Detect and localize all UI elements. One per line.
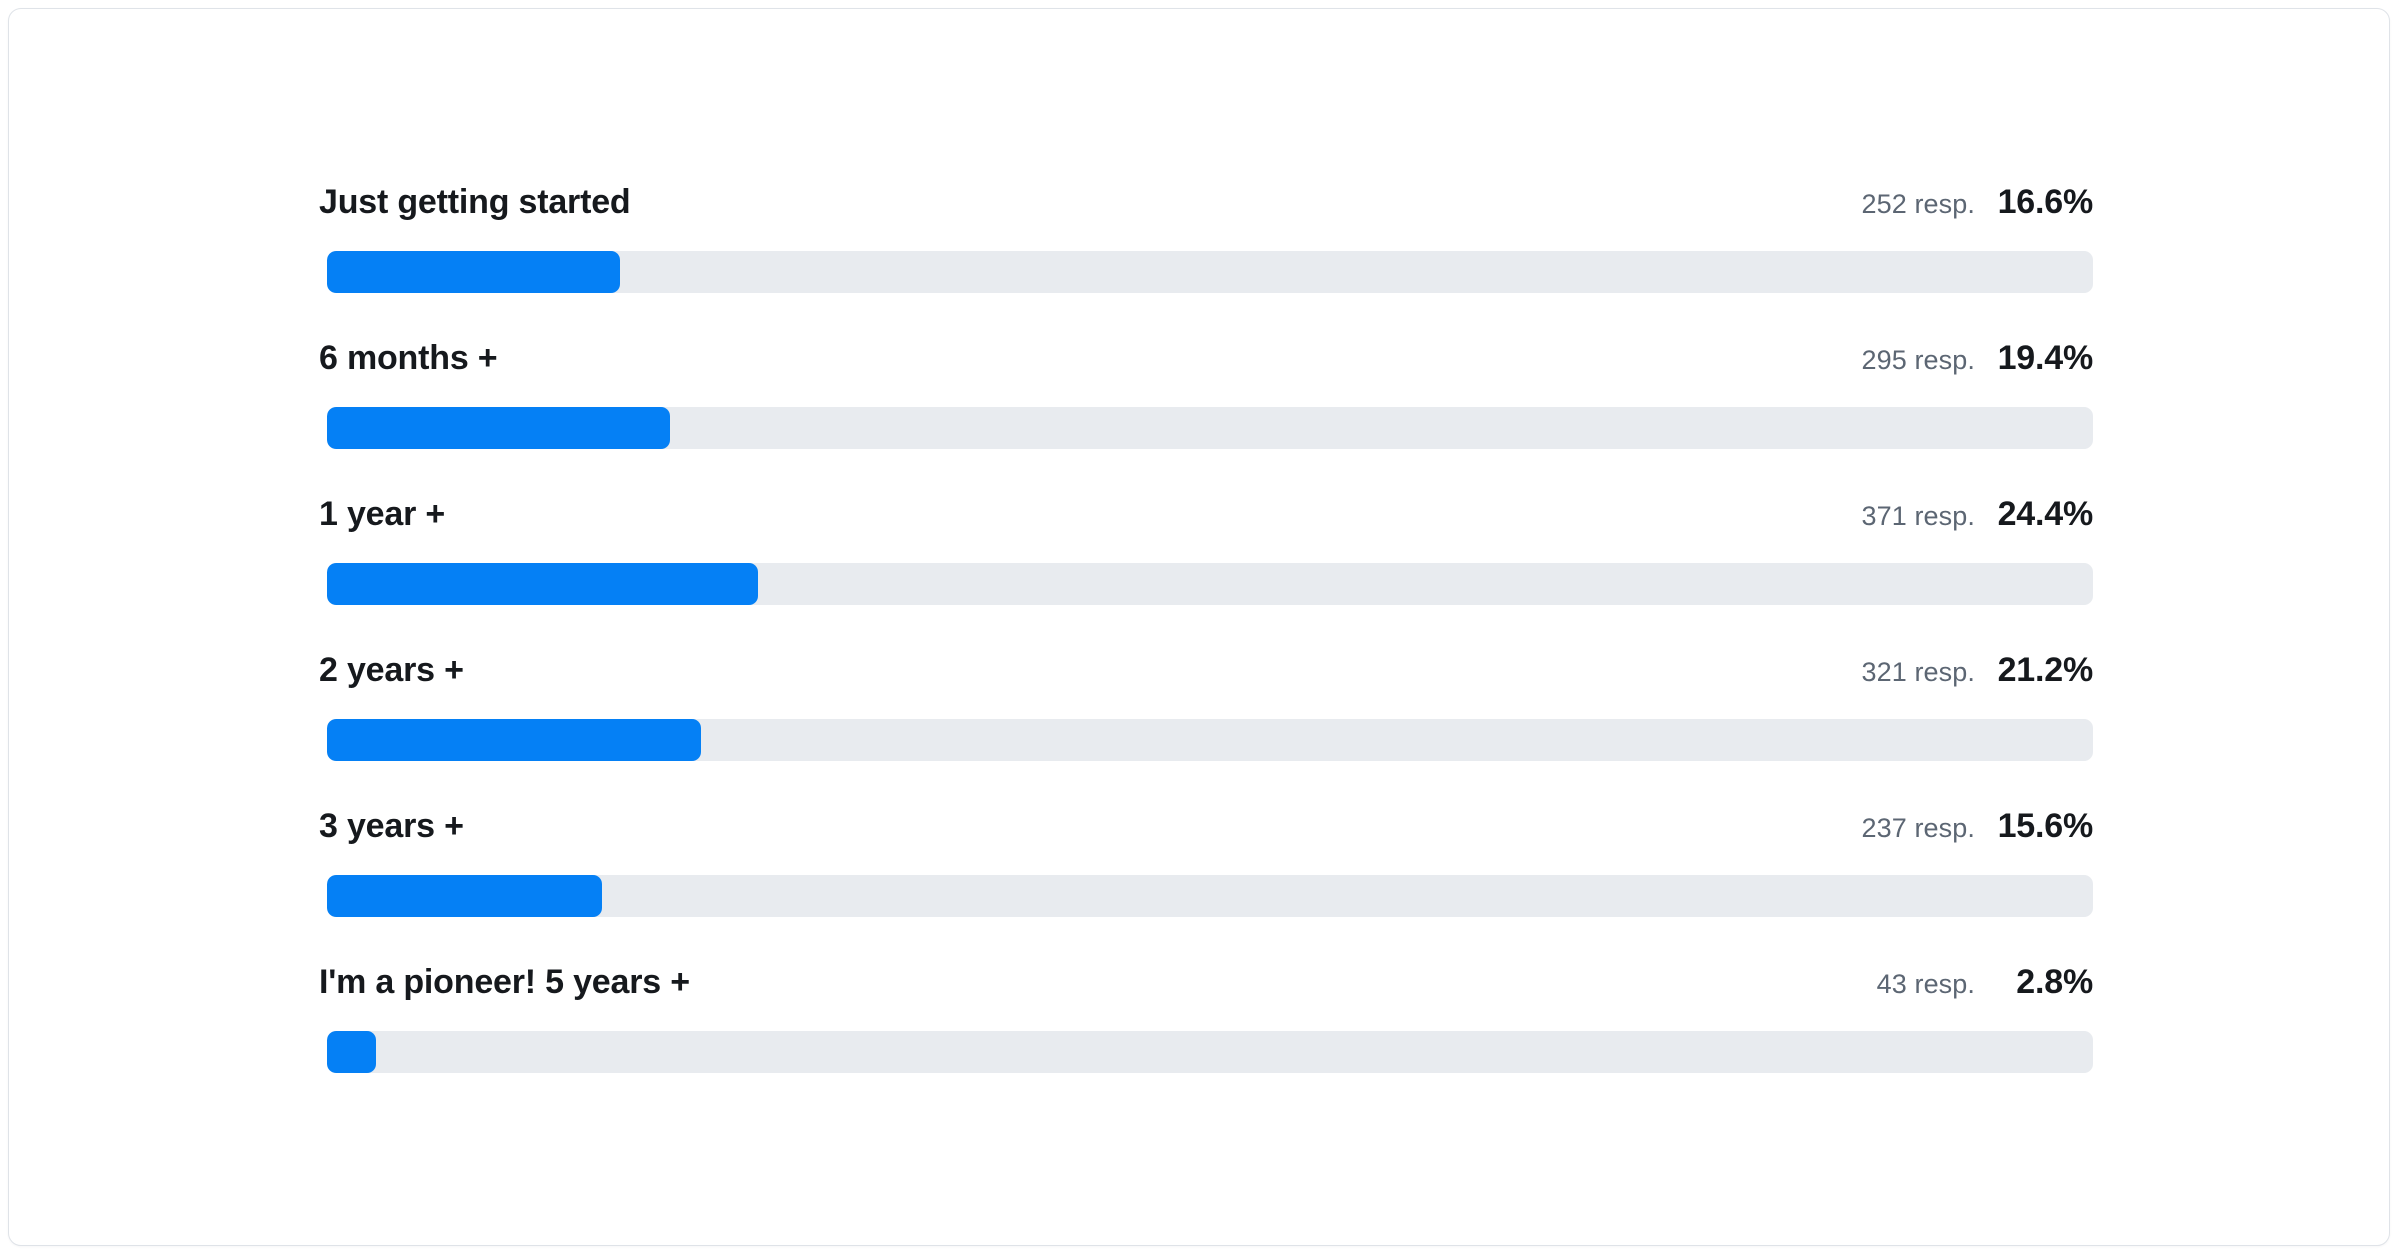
result-row-header: 1 year + 371 resp. 24.4% bbox=[319, 491, 2093, 537]
percentage-value: 21.2% bbox=[1975, 647, 2093, 693]
result-row-header: 3 years + 237 resp. 15.6% bbox=[319, 803, 2093, 849]
option-label: 1 year + bbox=[319, 491, 445, 537]
progress-bar-fill bbox=[327, 875, 602, 917]
progress-bar-fill bbox=[327, 251, 620, 293]
result-row-metrics: 43 resp. 2.8% bbox=[1877, 959, 2093, 1007]
progress-bar-fill bbox=[327, 719, 701, 761]
progress-bar-track bbox=[327, 563, 2093, 605]
response-count: 321 resp. bbox=[1862, 649, 1975, 695]
option-label: 2 years + bbox=[319, 647, 464, 693]
response-count: 295 resp. bbox=[1862, 337, 1975, 383]
percentage-value: 2.8% bbox=[1975, 959, 2093, 1005]
progress-bar-fill bbox=[327, 407, 670, 449]
progress-bar-track bbox=[327, 251, 2093, 293]
percentage-value: 16.6% bbox=[1975, 179, 2093, 225]
result-row-header: 6 months + 295 resp. 19.4% bbox=[319, 335, 2093, 381]
result-row[interactable]: 1 year + 371 resp. 24.4% bbox=[319, 491, 2093, 647]
progress-bar-track bbox=[327, 719, 2093, 761]
result-row-metrics: 321 resp. 21.2% bbox=[1862, 647, 2093, 695]
progress-bar-fill bbox=[327, 563, 758, 605]
progress-bar-track bbox=[327, 875, 2093, 917]
percentage-value: 19.4% bbox=[1975, 335, 2093, 381]
result-row[interactable]: 6 months + 295 resp. 19.4% bbox=[319, 335, 2093, 491]
response-count: 43 resp. bbox=[1877, 961, 1975, 1007]
result-row-metrics: 252 resp. 16.6% bbox=[1862, 179, 2093, 227]
result-row-header: Just getting started 252 resp. 16.6% bbox=[319, 179, 2093, 225]
response-count: 252 resp. bbox=[1862, 181, 1975, 227]
survey-results-list: Just getting started 252 resp. 16.6% 6 m… bbox=[319, 179, 2093, 1115]
progress-bar-fill bbox=[327, 1031, 376, 1073]
result-row[interactable]: 2 years + 321 resp. 21.2% bbox=[319, 647, 2093, 803]
result-row[interactable]: Just getting started 252 resp. 16.6% bbox=[319, 179, 2093, 335]
survey-results-card: Just getting started 252 resp. 16.6% 6 m… bbox=[8, 8, 2390, 1246]
option-label: 6 months + bbox=[319, 335, 497, 381]
percentage-value: 15.6% bbox=[1975, 803, 2093, 849]
percentage-value: 24.4% bbox=[1975, 491, 2093, 537]
result-row-metrics: 295 resp. 19.4% bbox=[1862, 335, 2093, 383]
result-row-header: 2 years + 321 resp. 21.2% bbox=[319, 647, 2093, 693]
result-row-metrics: 371 resp. 24.4% bbox=[1862, 491, 2093, 539]
response-count: 237 resp. bbox=[1862, 805, 1975, 851]
result-row[interactable]: 3 years + 237 resp. 15.6% bbox=[319, 803, 2093, 959]
progress-bar-track bbox=[327, 407, 2093, 449]
result-row[interactable]: I'm a pioneer! 5 years + 43 resp. 2.8% bbox=[319, 959, 2093, 1115]
option-label: Just getting started bbox=[319, 179, 630, 225]
result-row-metrics: 237 resp. 15.6% bbox=[1862, 803, 2093, 851]
result-row-header: I'm a pioneer! 5 years + 43 resp. 2.8% bbox=[319, 959, 2093, 1005]
response-count: 371 resp. bbox=[1862, 493, 1975, 539]
progress-bar-track bbox=[327, 1031, 2093, 1073]
option-label: I'm a pioneer! 5 years + bbox=[319, 959, 690, 1005]
option-label: 3 years + bbox=[319, 803, 464, 849]
